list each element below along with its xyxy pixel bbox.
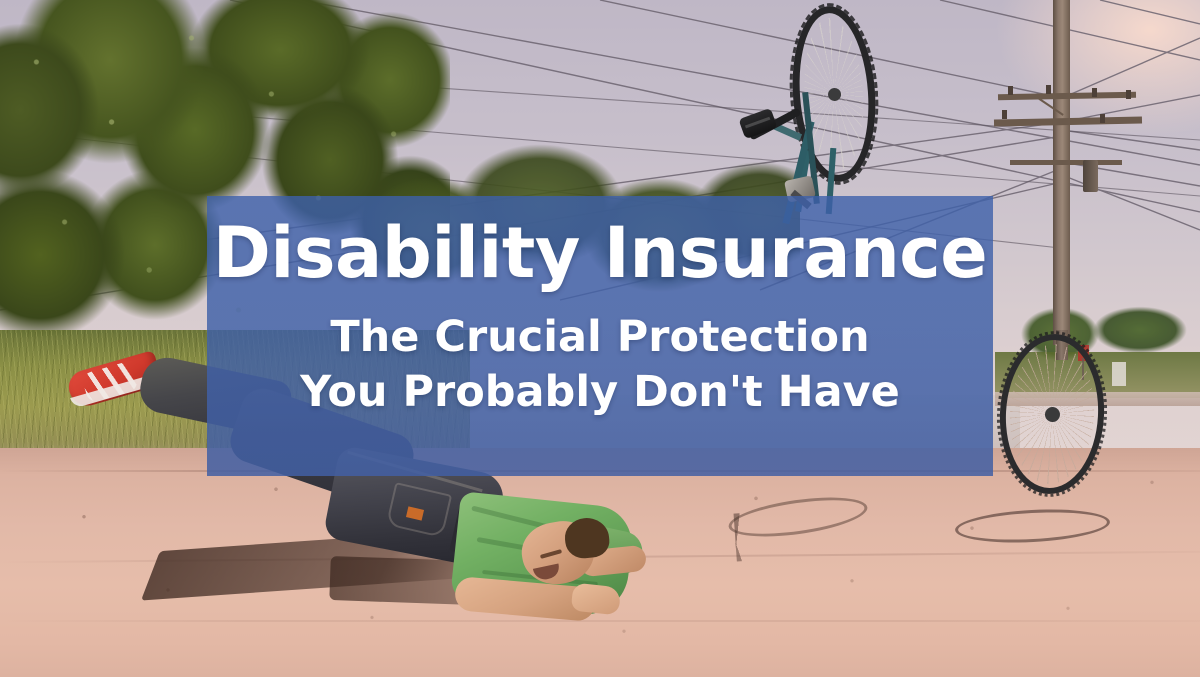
banner-subtitle-line-2: You Probably Don't Have — [300, 365, 900, 420]
banner-subtitle: The Crucial Protection You Probably Don'… — [300, 310, 900, 420]
title-overlay-panel: Disability Insurance The Crucial Protect… — [207, 196, 993, 476]
banner-title: Disability Insurance — [213, 218, 988, 288]
disability-insurance-banner: Disability Insurance The Crucial Protect… — [0, 0, 1200, 677]
banner-subtitle-line-1: The Crucial Protection — [300, 310, 900, 365]
